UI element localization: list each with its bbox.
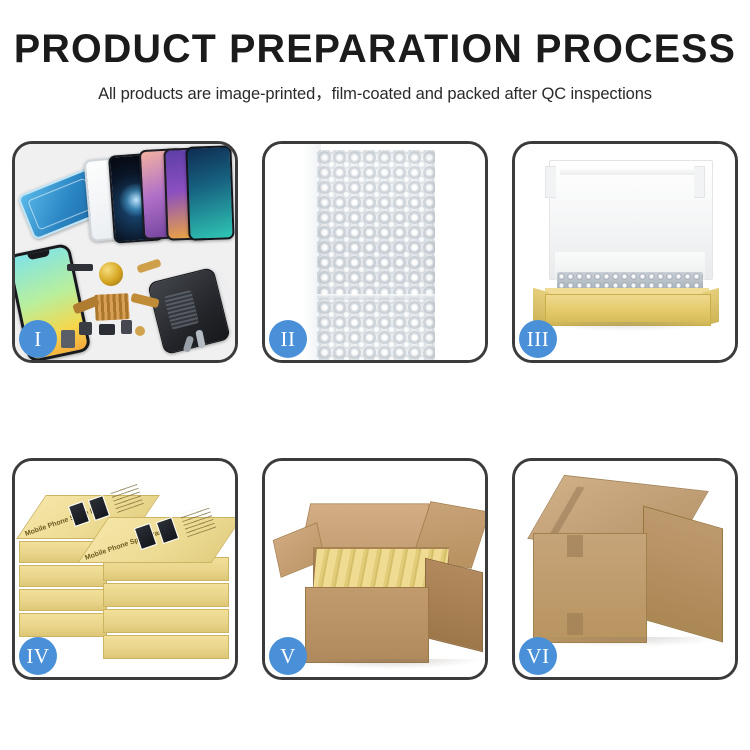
- step-badge-5: V: [269, 637, 307, 675]
- process-step-panel-5[interactable]: V: [262, 458, 488, 680]
- process-step-panel-2[interactable]: II: [262, 141, 488, 363]
- phone-screen-teal: [185, 145, 234, 241]
- page-header: PRODUCT PREPARATION PROCESS All products…: [0, 0, 750, 104]
- stacked-box-l2: [19, 565, 107, 587]
- process-step-panel-3[interactable]: III: [512, 141, 738, 363]
- bubble-wrap-pouch: [317, 150, 435, 360]
- sealed-carton-shadow: [529, 637, 725, 647]
- sealed-carton-side: [643, 506, 723, 643]
- process-step-panel-6[interactable]: VI: [512, 458, 738, 680]
- stacked-box-r3: [103, 609, 229, 633]
- small-part-3: [121, 320, 132, 334]
- small-part-4: [135, 326, 145, 336]
- step-badge-4: IV: [19, 637, 57, 675]
- stacked-box-r4: [103, 635, 229, 659]
- inner-box-lid-tab-right: [694, 166, 705, 198]
- sealed-carton-tape-top: [567, 535, 583, 557]
- small-part-5: [61, 330, 75, 348]
- flex-cable-c: [136, 258, 161, 273]
- process-step-panel-1[interactable]: I: [12, 141, 238, 363]
- page-subtitle: All products are image-printed，film-coat…: [0, 80, 750, 104]
- sealed-carton-tape-bottom: [567, 613, 583, 635]
- stacked-box-l3: [19, 589, 107, 611]
- stacked-box-r2: [103, 583, 229, 607]
- small-part-2: [99, 324, 115, 335]
- process-step-grid: I II III: [12, 141, 738, 680]
- battery-part: [67, 264, 93, 271]
- inner-box-shadow: [541, 322, 713, 331]
- step-badge-6: VI: [519, 637, 557, 675]
- page-title: PRODUCT PREPARATION PROCESS: [6, 28, 745, 70]
- sealed-carton-front: [533, 533, 647, 643]
- step-badge-2: II: [269, 320, 307, 358]
- bubble-wrap-seam: [317, 294, 435, 300]
- inner-box-lid-tab-left: [545, 166, 556, 198]
- carton-front-panel: [305, 587, 429, 663]
- step-badge-3: III: [519, 320, 557, 358]
- chip-part: [94, 293, 129, 321]
- small-part-1: [79, 322, 92, 335]
- stacked-box-l4: [19, 613, 107, 637]
- carton-side-panel: [425, 558, 483, 652]
- step-badge-1: I: [19, 320, 57, 358]
- gold-coil-part: [99, 262, 123, 286]
- process-step-panel-4[interactable]: Mobile Phone Spare Parts Mobile Phone Sp…: [12, 458, 238, 680]
- carton-shadow: [301, 659, 483, 669]
